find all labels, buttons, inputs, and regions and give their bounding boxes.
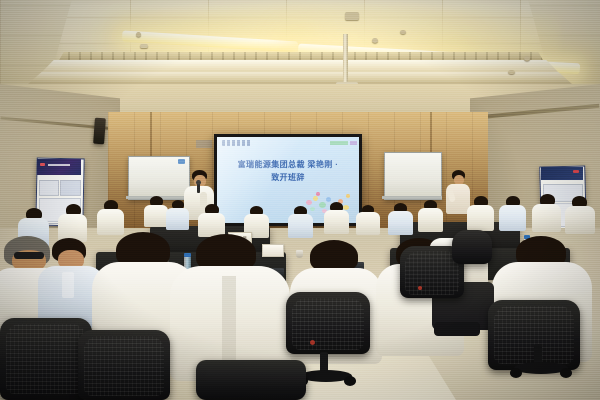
- sprinkler-head-icon: [372, 38, 378, 43]
- chair-mesh-texture: [6, 324, 86, 394]
- black-mesh-office-chair: [196, 360, 306, 400]
- chair-brand-logo-icon: [310, 340, 315, 345]
- wall-sign: [196, 140, 212, 148]
- conference-room-photo: 富瑞能源集团总裁 梁艳刚 · 致开班辞: [0, 0, 600, 400]
- wall-mounted-speaker: [93, 118, 106, 145]
- wall-poster-left-accent: [40, 163, 45, 166]
- microphone-head-icon: [196, 180, 201, 185]
- chair-brand-logo-icon: [418, 286, 422, 290]
- wall-poster-left-block: [39, 180, 59, 196]
- smoke-detector-icon: [140, 44, 148, 48]
- wall-poster-left-title-bar: [48, 164, 70, 166]
- paper-cup: [296, 250, 303, 258]
- chair-mesh-texture: [292, 298, 364, 350]
- wall-poster-right-accent: [573, 170, 579, 173]
- chair-mesh-texture: [405, 251, 459, 295]
- wall-poster-left-block: [60, 180, 81, 196]
- chair-caster: [560, 368, 572, 378]
- ceiling-cornice-lower: [28, 72, 572, 84]
- shirt-placket: [62, 272, 74, 298]
- chair-caster: [344, 376, 356, 386]
- whiteboard-marker-tray: [382, 196, 442, 199]
- eyeglasses-icon: [14, 252, 44, 259]
- sprinkler-head-icon: [524, 56, 530, 61]
- shoe: [434, 322, 480, 336]
- bottle-cap: [184, 253, 191, 257]
- sprinkler-head-icon: [136, 32, 141, 37]
- sensor-icon: [400, 30, 406, 34]
- black-mesh-office-chair: [452, 230, 492, 264]
- whiteboard-right: [384, 152, 442, 200]
- whiteboard-marker-icon: [178, 159, 185, 164]
- sensor-icon: [508, 70, 515, 74]
- wall-poster-right-header: [541, 167, 583, 180]
- wall-poster-left-header: [37, 159, 81, 175]
- chair-mesh-texture: [84, 336, 164, 396]
- ceiling-mount-plate: [345, 12, 359, 20]
- name-placard: [262, 244, 284, 257]
- chair-caster: [510, 368, 522, 378]
